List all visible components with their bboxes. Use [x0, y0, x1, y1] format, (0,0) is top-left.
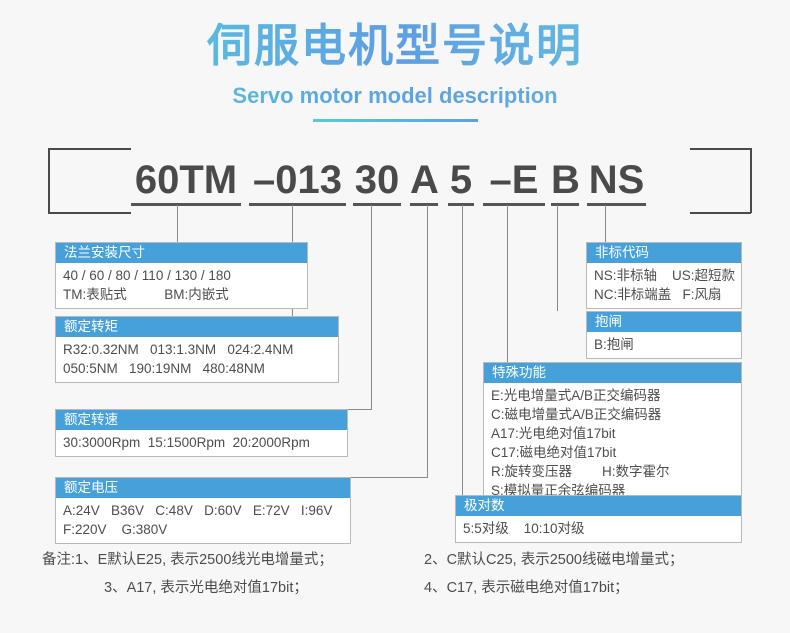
box-torque-line-0: R32:0.32NM 013:1.3NM 024:2.4NM — [63, 340, 331, 359]
box-nonstandard-body: NS:非标轴 US:超短款 NC:非标端盖 F:风扇 — [587, 263, 741, 308]
model-segment-brake: B — [551, 158, 579, 202]
box-nonstandard-header: 非标代码 — [587, 243, 741, 263]
model-underline-brake — [551, 203, 579, 206]
model-underline-flange — [131, 203, 241, 206]
box-voltage-header: 额定电压 — [56, 478, 350, 498]
box-special-header: 特殊功能 — [484, 363, 741, 383]
note-4: 4、C17, 表示磁电绝对值17bit； — [424, 576, 629, 597]
leader-special — [507, 205, 508, 363]
box-torque: 额定转矩 R32:0.32NM 013:1.3NM 024:2.4NM 050:… — [55, 316, 339, 383]
box-special-line-1: C:磁电增量式A/B正交编码器 — [491, 405, 734, 424]
model-segment-voltage: A — [410, 158, 438, 202]
model-underline-nonstandard — [587, 203, 646, 206]
leader-speed-elbow — [348, 409, 372, 410]
leader-nonstandard — [605, 205, 606, 242]
frame-bottom-right — [690, 212, 751, 214]
box-nonstandard-line-0: NS:非标轴 US:超短款 — [594, 266, 734, 285]
leader-voltage — [427, 205, 428, 477]
frame-top-right — [690, 148, 751, 150]
frame-right-edge — [750, 148, 752, 213]
box-speed-line-0: 30:3000Rpm 15:1500Rpm 20:2000Rpm — [63, 433, 340, 452]
diagram-canvas: 伺服电机型号说明 Servo motor model description 6… — [0, 0, 790, 633]
note-3: 3、A17, 表示光电绝对值17bit； — [104, 576, 308, 597]
box-flange-body: 40 / 60 / 80 / 110 / 130 / 180 TM:表贴式 BM… — [56, 263, 307, 308]
box-special-line-2: A17:光电绝对值17bit — [491, 424, 734, 443]
box-voltage-line-0: A:24V B36V C:48V D:60V E:72V I:96V — [63, 501, 343, 520]
box-poles: 极对数 5:5对级 10:10对级 — [455, 495, 742, 543]
leader-voltage-elbow — [351, 477, 428, 478]
box-brake: 抱闸 B:抱闸 — [586, 311, 742, 359]
box-voltage-body: A:24V B36V C:48V D:60V E:72V I:96V F:220… — [56, 498, 350, 543]
box-special-line-3: C17:磁电绝对值17bit — [491, 443, 734, 462]
note-row-2: 3、A17, 表示光电绝对值17bit； 4、C17, 表示磁电绝对值17bit… — [0, 576, 790, 604]
box-flange-header: 法兰安装尺寸 — [56, 243, 307, 263]
box-flange-line-0: 40 / 60 / 80 / 110 / 130 / 180 — [63, 266, 300, 285]
note-row-1: 备注:1、E默认E25, 表示2500线光电增量式； 2、C默认C25, 表示2… — [0, 548, 790, 576]
box-brake-body: B:抱闸 — [587, 332, 741, 358]
box-speed-header: 额定转速 — [56, 410, 347, 430]
box-nonstandard: 非标代码 NS:非标轴 US:超短款 NC:非标端盖 F:风扇 — [586, 242, 742, 309]
model-segment-speed: 30 — [353, 158, 401, 202]
frame-left-edge — [48, 148, 50, 213]
leader-flange — [177, 205, 178, 243]
box-special-line-4: R:旋转变压器 H:数字霍尔 — [491, 462, 734, 481]
box-torque-line-1: 050:5NM 190:19NM 480:48NM — [63, 359, 331, 378]
model-segment-nonstandard: NS — [587, 158, 646, 202]
box-special-line-0: E:光电增量式A/B正交编码器 — [491, 386, 734, 405]
model-underline-speed — [353, 203, 401, 206]
model-segment-poles: 5 — [448, 158, 474, 202]
note-1: 备注:1、E默认E25, 表示2500线光电增量式； — [42, 548, 333, 569]
box-flange: 法兰安装尺寸 40 / 60 / 80 / 110 / 130 / 180 TM… — [55, 242, 308, 309]
box-poles-line-0: 5:5对级 10:10对级 — [463, 519, 734, 538]
model-underline-special — [483, 203, 545, 206]
box-voltage-line-1: F:220V G:380V — [63, 520, 343, 539]
box-special-body: E:光电增量式A/B正交编码器 C:磁电增量式A/B正交编码器 A17:光电绝对… — [484, 383, 741, 504]
model-segment-special: –E — [483, 158, 545, 202]
note-2: 2、C默认C25, 表示2500线磁电增量式； — [424, 548, 683, 569]
page-title-chinese: 伺服电机型号说明 — [0, 18, 790, 74]
model-underline-poles — [448, 203, 474, 206]
model-segment-flange: 60TM — [131, 158, 241, 202]
box-speed: 额定转速 30:3000Rpm 15:1500Rpm 20:2000Rpm — [55, 409, 348, 457]
box-voltage: 额定电压 A:24V B36V C:48V D:60V E:72V I:96V … — [55, 477, 351, 544]
model-underline-torque — [249, 203, 346, 206]
box-flange-line-1: TM:表贴式 BM:内嵌式 — [63, 285, 300, 304]
frame-top-left — [48, 148, 131, 150]
box-nonstandard-line-1: NC:非标端盖 F:风扇 — [594, 285, 734, 304]
leader-poles — [462, 205, 463, 495]
box-brake-header: 抱闸 — [587, 312, 741, 332]
page-subtitle-english: Servo motor model description — [0, 82, 790, 110]
frame-bottom-left — [48, 212, 131, 214]
leader-brake — [557, 205, 558, 311]
box-poles-header: 极对数 — [456, 496, 741, 516]
box-torque-body: R32:0.32NM 013:1.3NM 024:2.4NM 050:5NM 1… — [56, 337, 338, 382]
model-underline-voltage — [410, 203, 438, 206]
box-special: 特殊功能 E:光电增量式A/B正交编码器 C:磁电增量式A/B正交编码器 A17… — [483, 362, 742, 505]
box-speed-body: 30:3000Rpm 15:1500Rpm 20:2000Rpm — [56, 430, 347, 456]
leader-speed — [371, 205, 372, 410]
title-divider — [313, 119, 478, 122]
box-poles-body: 5:5对级 10:10对级 — [456, 516, 741, 542]
footer-notes: 备注:1、E默认E25, 表示2500线光电增量式； 2、C默认C25, 表示2… — [0, 548, 790, 604]
box-torque-header: 额定转矩 — [56, 317, 338, 337]
box-brake-line-0: B:抱闸 — [594, 335, 734, 354]
model-segment-torque: –013 — [249, 158, 346, 202]
